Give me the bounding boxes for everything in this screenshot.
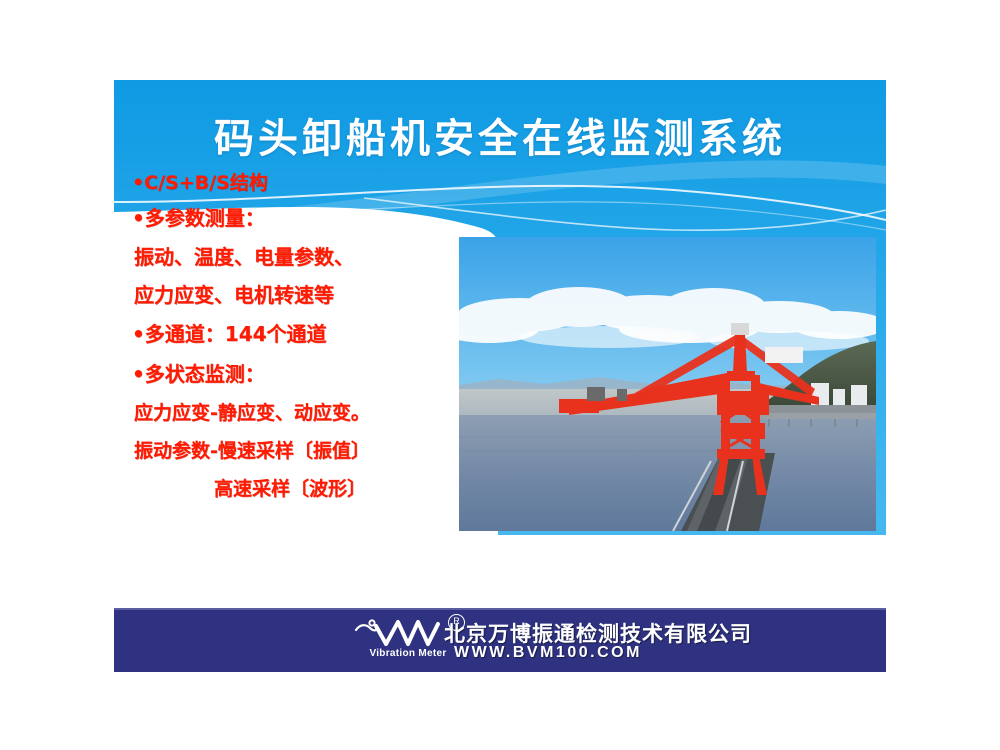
bullet-item-vibration-slow: 振动参数-慢速采样〔振值〕 bbox=[134, 432, 476, 470]
dock-unloader-photo bbox=[459, 237, 876, 531]
bullet-item-multi-parameter: •多参数测量： bbox=[132, 198, 476, 238]
photo-illustration bbox=[459, 237, 876, 531]
bullet-item-strain: 应力应变-静应变、动应变。 bbox=[134, 394, 476, 432]
presentation-slide: 码头卸船机安全在线监测系统 •C/S+B/S结构 •多参数测量： 振动、温度、电… bbox=[114, 80, 886, 672]
footer-top-strip bbox=[114, 608, 886, 610]
bullet-item-vibration-fast: 高速采样〔波形〕 bbox=[214, 470, 476, 508]
bullet-item-parameters-line1: 振动、温度、电量参数、 bbox=[134, 238, 476, 276]
bullet-item-parameters-line2: 应力应变、电机转速等 bbox=[134, 276, 476, 314]
bullet-item-channels: •多通道：144个通道 bbox=[132, 314, 476, 354]
logo-caption: Vibration Meter bbox=[352, 648, 464, 659]
page-title: 码头卸船机安全在线监测系统 bbox=[114, 106, 886, 164]
company-website: WWW.BVM100.COM bbox=[454, 644, 642, 662]
bullet-item-multi-state: •多状态监测： bbox=[132, 354, 476, 394]
bullet-list: •C/S+B/S结构 •多参数测量： 振动、温度、电量参数、 应力应变、电机转速… bbox=[126, 168, 476, 508]
footer-bar: R Vibration Meter 北京万博振通检测技术有限公司 WWW.BVM… bbox=[114, 608, 886, 672]
bullet-item-architecture: •C/S+B/S结构 bbox=[132, 168, 476, 198]
